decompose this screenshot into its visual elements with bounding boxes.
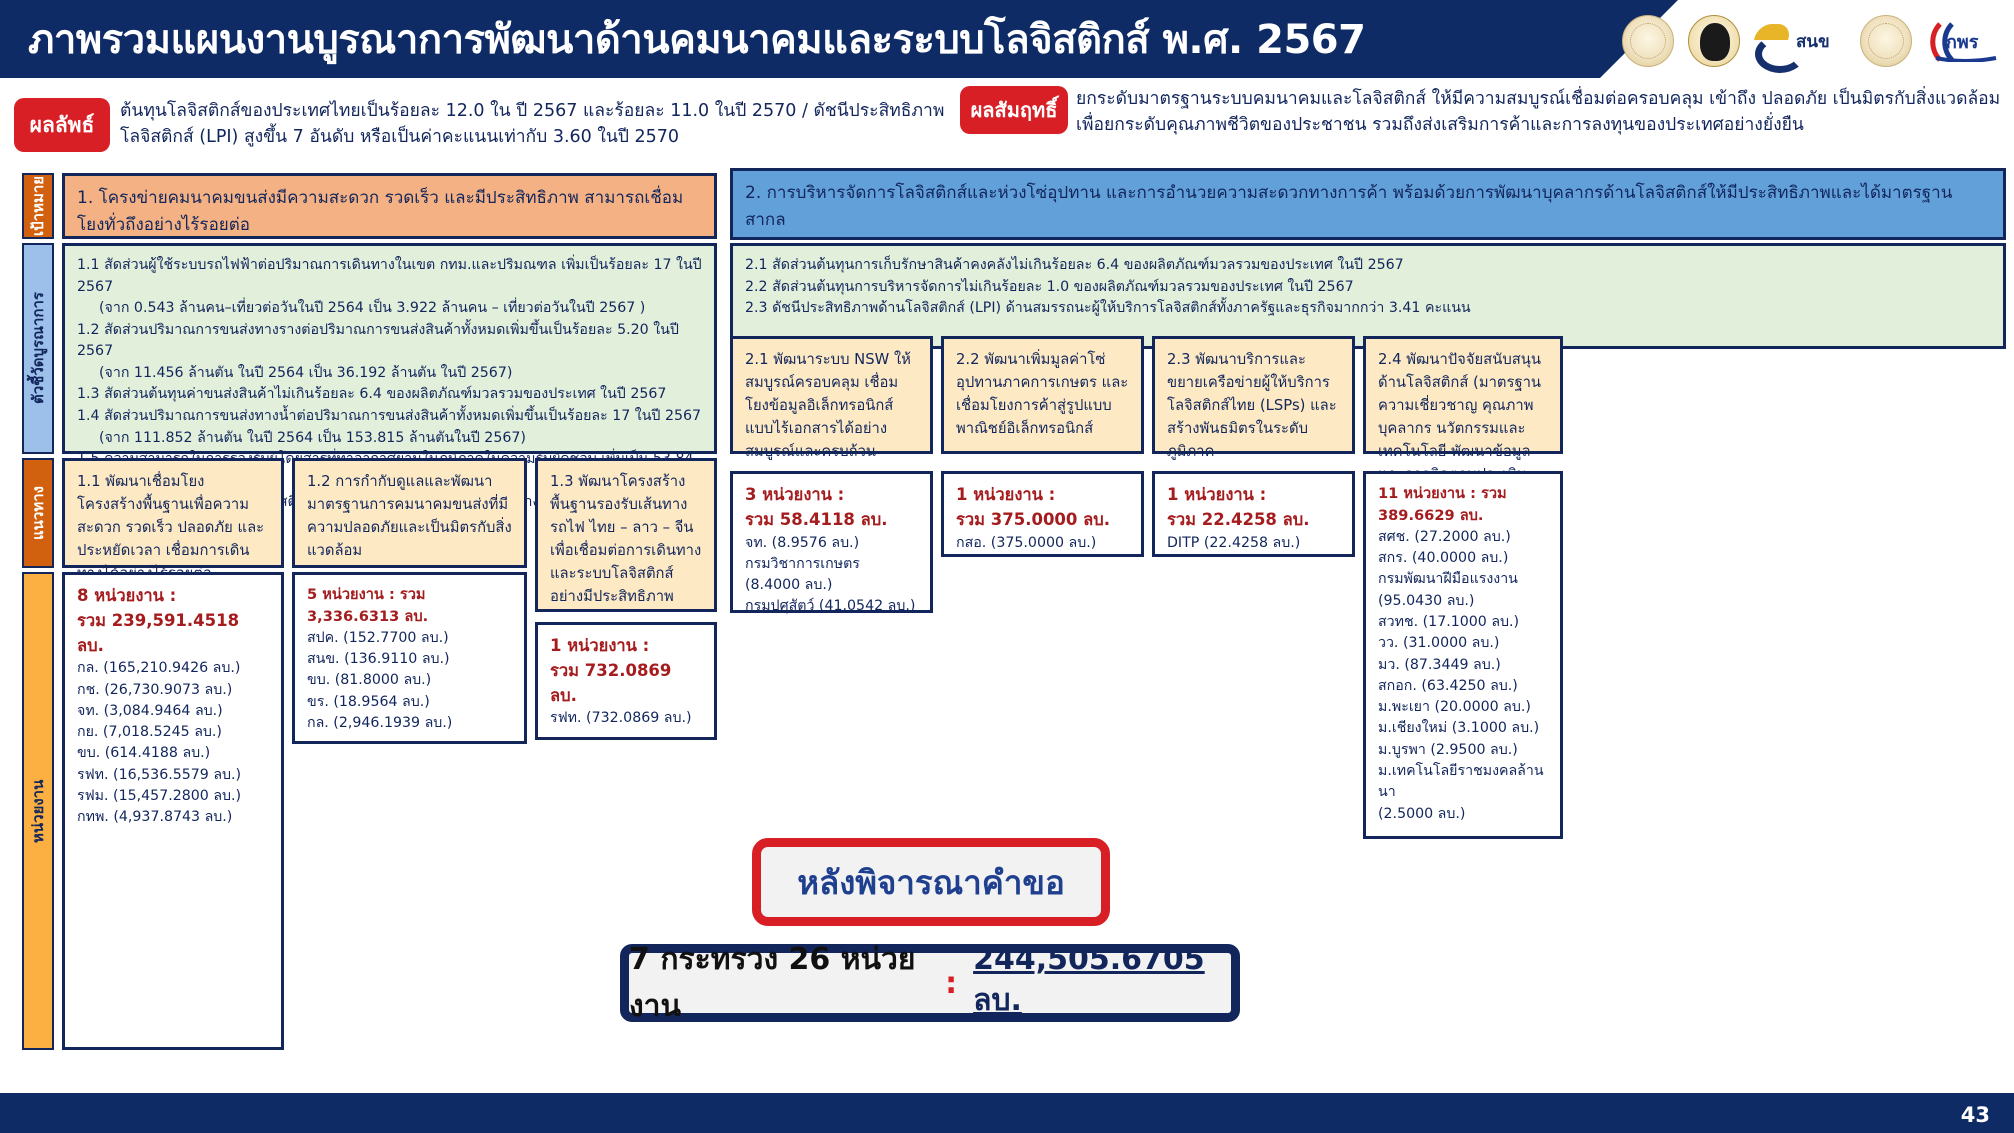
agency-total-title: 1 หน่วยงาน : bbox=[550, 634, 702, 659]
agency-total-title: 1 หน่วยงาน : bbox=[956, 483, 1129, 508]
approach-2-2-text: 2.2 พัฒนาเพิ่มมูลค่าโซ่อุปทานภาคการเกษตร… bbox=[956, 348, 1129, 440]
agency-item: (2.5000 ลบ.) bbox=[1378, 804, 1548, 825]
kpi-left-item: (จาก 111.852 ล้านตัน ในปี 2564 เป็น 153.… bbox=[77, 428, 702, 450]
agency-item: ขบ. (81.8000 ลบ.) bbox=[307, 670, 512, 691]
agency-item: สกอก. (63.4250 ลบ.) bbox=[1378, 676, 1548, 697]
approach-box-1-2: 1.2 การกำกับดูแลและพัฒนามาตรฐานการคมนาคม… bbox=[292, 458, 527, 568]
agency-item: (95.0430 ลบ.) bbox=[1378, 591, 1548, 612]
kpi-box-right: 2.1 สัดส่วนต้นทุนการเก็บรักษาสินค้าคงคลั… bbox=[730, 243, 2006, 349]
grand-total-label: 7 กระทรวง 26 หน่วยงาน bbox=[629, 936, 929, 1030]
grand-total-value: 244,505.6705 ลบ. bbox=[973, 942, 1231, 1024]
kpi-left-item: (จาก 11.456 ล้านตัน ในปี 2564 เป็น 36.19… bbox=[77, 363, 702, 385]
result-row: ผลลัพธ์ ต้นทุนโลจิสติกส์ของประเทศไทยเป็น… bbox=[14, 98, 954, 164]
approach-box-2-1: 2.1 พัฒนาระบบ NSW ให้สมบูรณ์ครอบคลุม เชื… bbox=[730, 336, 933, 454]
impact-row: ผลสัมฤทธิ์ ยกระดับมาตรฐานระบบคมนาคมและโล… bbox=[960, 86, 2006, 172]
agency-item: กล. (2,946.1939 ลบ.) bbox=[307, 713, 512, 734]
agency-total-title: 1 หน่วยงาน : bbox=[1167, 483, 1340, 508]
goal-1-text: 1. โครงข่ายคมนาคมขนส่งมีความสะดวก รวดเร็… bbox=[77, 185, 702, 239]
agency-item: สวทช. (17.1000 ลบ.) bbox=[1378, 612, 1548, 633]
approach-2-3-text: 2.3 พัฒนาบริการและขยายเครือข่ายผู้ให้บริ… bbox=[1167, 348, 1340, 463]
kpi-left-item: 1.4 สัดส่วนปริมาณการขนส่งทางน้ำต่อปริมาณ… bbox=[77, 406, 702, 428]
goal-box-1: 1. โครงข่ายคมนาคมขนส่งมีความสะดวก รวดเร็… bbox=[62, 173, 717, 239]
agency-box-1-1: 8 หน่วยงาน :รวม 239,591.4518 ลบ.กล. (165… bbox=[62, 572, 284, 1050]
snb-mark-icon bbox=[1754, 21, 1794, 61]
agency-box-2-3: 1 หน่วยงาน :รวม 22.4258 ลบ.DITP (22.4258… bbox=[1152, 471, 1355, 557]
agency-item: ขร. (18.9564 ลบ.) bbox=[307, 692, 512, 713]
agency-item: มว. (87.3449 ลบ.) bbox=[1378, 655, 1548, 676]
agency-item: DITP (22.4258 ลบ.) bbox=[1167, 533, 1340, 554]
agency-item: รฟท. (16,536.5579 ลบ.) bbox=[77, 765, 269, 786]
agency-item: รฟท. (732.0869 ลบ.) bbox=[550, 708, 702, 729]
goal-2-text: 2. การบริหารจัดการโลจิสติกส์และห่วงโซ่อุ… bbox=[745, 180, 1991, 234]
agency-item: กช. (26,730.9073 ลบ.) bbox=[77, 680, 269, 701]
kpi-left-item: 1.2 สัดส่วนปริมาณการขนส่งทางรางต่อปริมาณ… bbox=[77, 320, 702, 363]
agency-item: กสอ. (375.0000 ลบ.) bbox=[956, 533, 1129, 554]
row-label-agency: หน่วยงาน bbox=[22, 572, 54, 1050]
agency-total-title: 8 หน่วยงาน : bbox=[77, 584, 269, 609]
approach-box-2-4: 2.4 พัฒนาปัจจัยสนับสนุนด้านโลจิสติกส์ (ม… bbox=[1363, 336, 1563, 454]
row-label-approach: แนวทาง bbox=[22, 458, 54, 568]
kpi-left-item: (จาก 0.543 ล้านคน–เที่ยวต่อวันในปี 2564 … bbox=[77, 298, 702, 320]
approach-box-2-2: 2.2 พัฒนาเพิ่มมูลค่าโซ่อุปทานภาคการเกษตร… bbox=[941, 336, 1144, 454]
snb-logo: สนข bbox=[1754, 21, 1846, 61]
agency-item: สกร. (40.0000 ลบ.) bbox=[1378, 548, 1548, 569]
agency-item: สศช. (27.2000 ลบ.) bbox=[1378, 527, 1548, 548]
agency-item: กย. (7,018.5245 ลบ.) bbox=[77, 722, 269, 743]
kpi-left-item: 1.1 สัดส่วนผู้ใช้ระบบรถไฟฟ้าต่อปริมาณการ… bbox=[77, 255, 702, 298]
agency-item: ม.เทคโนโลยีราชมงคลล้านนา bbox=[1378, 761, 1548, 804]
agency-box-2-2: 1 หน่วยงาน :รวม 375.0000 ลบ.กสอ. (375.00… bbox=[941, 471, 1144, 557]
kpr-logo-label: กพร bbox=[1946, 27, 1978, 56]
agency-item: กรมพัฒนาฝีมือแรงงาน bbox=[1378, 569, 1548, 590]
kpi-right-item: 2.2 สัดส่วนต้นทุนการบริหารจัดการไม่เกินร… bbox=[745, 277, 1991, 299]
agency-item: วว. (31.0000 ลบ.) bbox=[1378, 633, 1548, 654]
impact-badge: ผลสัมฤทธิ์ bbox=[960, 86, 1068, 134]
result-text: ต้นทุนโลจิสติกส์ของประเทศไทยเป็นร้อยละ 1… bbox=[120, 98, 954, 164]
approach-box-2-3: 2.3 พัฒนาบริการและขยายเครือข่ายผู้ให้บริ… bbox=[1152, 336, 1355, 454]
kpi-box-left: 1.1 สัดส่วนผู้ใช้ระบบรถไฟฟ้าต่อปริมาณการ… bbox=[62, 243, 717, 454]
agency-total-title: 5 หน่วยงาน : รวม 3,336.6313 ลบ. bbox=[307, 584, 512, 628]
agency-item: ม.บูรพา (2.9500 ลบ.) bbox=[1378, 740, 1548, 761]
kpi-right-list: 2.1 สัดส่วนต้นทุนการเก็บรักษาสินค้าคงคลั… bbox=[745, 255, 1991, 320]
agency-item: จท. (8.9576 ลบ.) bbox=[745, 533, 918, 554]
approach-2-1-text: 2.1 พัฒนาระบบ NSW ให้สมบูรณ์ครอบคลุม เชื… bbox=[745, 348, 918, 463]
grand-total-colon: : bbox=[945, 966, 957, 1001]
goal-box-2: 2. การบริหารจัดการโลจิสติกส์และห่วงโซ่อุ… bbox=[730, 168, 2006, 240]
kpi-right-item: 2.1 สัดส่วนต้นทุนการเก็บรักษาสินค้าคงคลั… bbox=[745, 255, 1991, 277]
kpi-right-item: 2.3 ดัชนีประสิทธิภาพด้านโลจิสติกส์ (LPI)… bbox=[745, 298, 1991, 320]
kpr-logo: กพร bbox=[1926, 16, 1998, 66]
agency-item: กรมปศุสัตว์ (41.0542 ลบ.) bbox=[745, 596, 918, 617]
agency-item: ขบ. (614.4188 ลบ.) bbox=[77, 743, 269, 764]
page-title: ภาพรวมแผนงานบูรณาการพัฒนาด้านคมนาคมและระ… bbox=[28, 8, 1568, 70]
agency-box-1-2: 5 หน่วยงาน : รวม 3,336.6313 ลบ.สปค. (152… bbox=[292, 572, 527, 744]
agency-item: ม.พะเยา (20.0000 ลบ.) bbox=[1378, 697, 1548, 718]
approach-1-2-text: 1.2 การกำกับดูแลและพัฒนามาตรฐานการคมนาคม… bbox=[307, 470, 512, 562]
agency-total-title: 3 หน่วยงาน : bbox=[745, 483, 918, 508]
row-label-goal: เป้าหมาย bbox=[22, 173, 54, 239]
agency-item: สปค. (152.7700 ลบ.) bbox=[307, 628, 512, 649]
agency-total-title: 11 หน่วยงาน : รวม 389.6629 ลบ. bbox=[1378, 483, 1548, 527]
grand-total-callout: 7 กระทรวง 26 หน่วยงาน : 244,505.6705 ลบ. bbox=[620, 944, 1240, 1022]
logo-strip: สนข กพร bbox=[1622, 12, 1998, 70]
agency-total-amount: รวม 58.4118 ลบ. bbox=[745, 508, 918, 533]
agency-item: จท. (3,084.9464 ลบ.) bbox=[77, 701, 269, 722]
agency-box-1-3: 1 หน่วยงาน :รวม 732.0869 ลบ.รฟท. (732.08… bbox=[535, 622, 717, 740]
agency-box-2-4: 11 หน่วยงาน : รวม 389.6629 ลบ.สศช. (27.2… bbox=[1363, 471, 1563, 839]
after-review-callout: หลังพิจารณาคำขอ bbox=[752, 838, 1110, 926]
row-label-kpi: ตัวชี้วัดบูรณาการ bbox=[22, 243, 54, 454]
agency-item: กทพ. (4,937.8743 ลบ.) bbox=[77, 807, 269, 828]
agency-item: ม.เชียงใหม่ (3.1000 ลบ.) bbox=[1378, 718, 1548, 739]
kpi-left-item: 1.3 สัดส่วนต้นทุนค่าขนส่งสินค้าไม่เกินร้… bbox=[77, 384, 702, 406]
result-badge: ผลลัพธ์ bbox=[14, 98, 110, 152]
approach-1-3-text: 1.3 พัฒนาโครงสร้างพื้นฐานรองรับเส้นทางรถ… bbox=[550, 470, 702, 608]
agency-item: รฟม. (15,457.2800 ลบ.) bbox=[77, 786, 269, 807]
agency-total-amount: รวม 239,591.4518 ลบ. bbox=[77, 609, 269, 659]
royal-crest-logo bbox=[1860, 15, 1912, 67]
approach-box-1-3: 1.3 พัฒนาโครงสร้างพื้นฐานรองรับเส้นทางรถ… bbox=[535, 458, 717, 612]
agency-item: กล. (165,210.9426 ลบ.) bbox=[77, 658, 269, 679]
agency-total-amount: รวม 732.0869 ลบ. bbox=[550, 659, 702, 709]
agency-total-amount: รวม 22.4258 ลบ. bbox=[1167, 508, 1340, 533]
garuda-emblem-logo bbox=[1688, 15, 1740, 67]
agency-item: กรมวิชาการเกษตร (8.4000 ลบ.) bbox=[745, 554, 918, 597]
approach-1-1-text: 1.1 พัฒนาเชื่อมโยงโครงสร้างพื้นฐานเพื่อค… bbox=[77, 470, 269, 585]
page-number: 43 bbox=[1961, 1103, 1990, 1127]
agency-total-amount: รวม 375.0000 ลบ. bbox=[956, 508, 1129, 533]
agency-item: สนข. (136.9110 ลบ.) bbox=[307, 649, 512, 670]
impact-text: ยกระดับมาตรฐานระบบคมนาคมและโลจิสติกส์ ให… bbox=[1076, 86, 2006, 172]
royal-seal-logo bbox=[1622, 15, 1674, 67]
footer-band bbox=[0, 1093, 2014, 1133]
agency-box-2-1: 3 หน่วยงาน :รวม 58.4118 ลบ.จท. (8.9576 ล… bbox=[730, 471, 933, 613]
approach-box-1-1: 1.1 พัฒนาเชื่อมโยงโครงสร้างพื้นฐานเพื่อค… bbox=[62, 458, 284, 568]
